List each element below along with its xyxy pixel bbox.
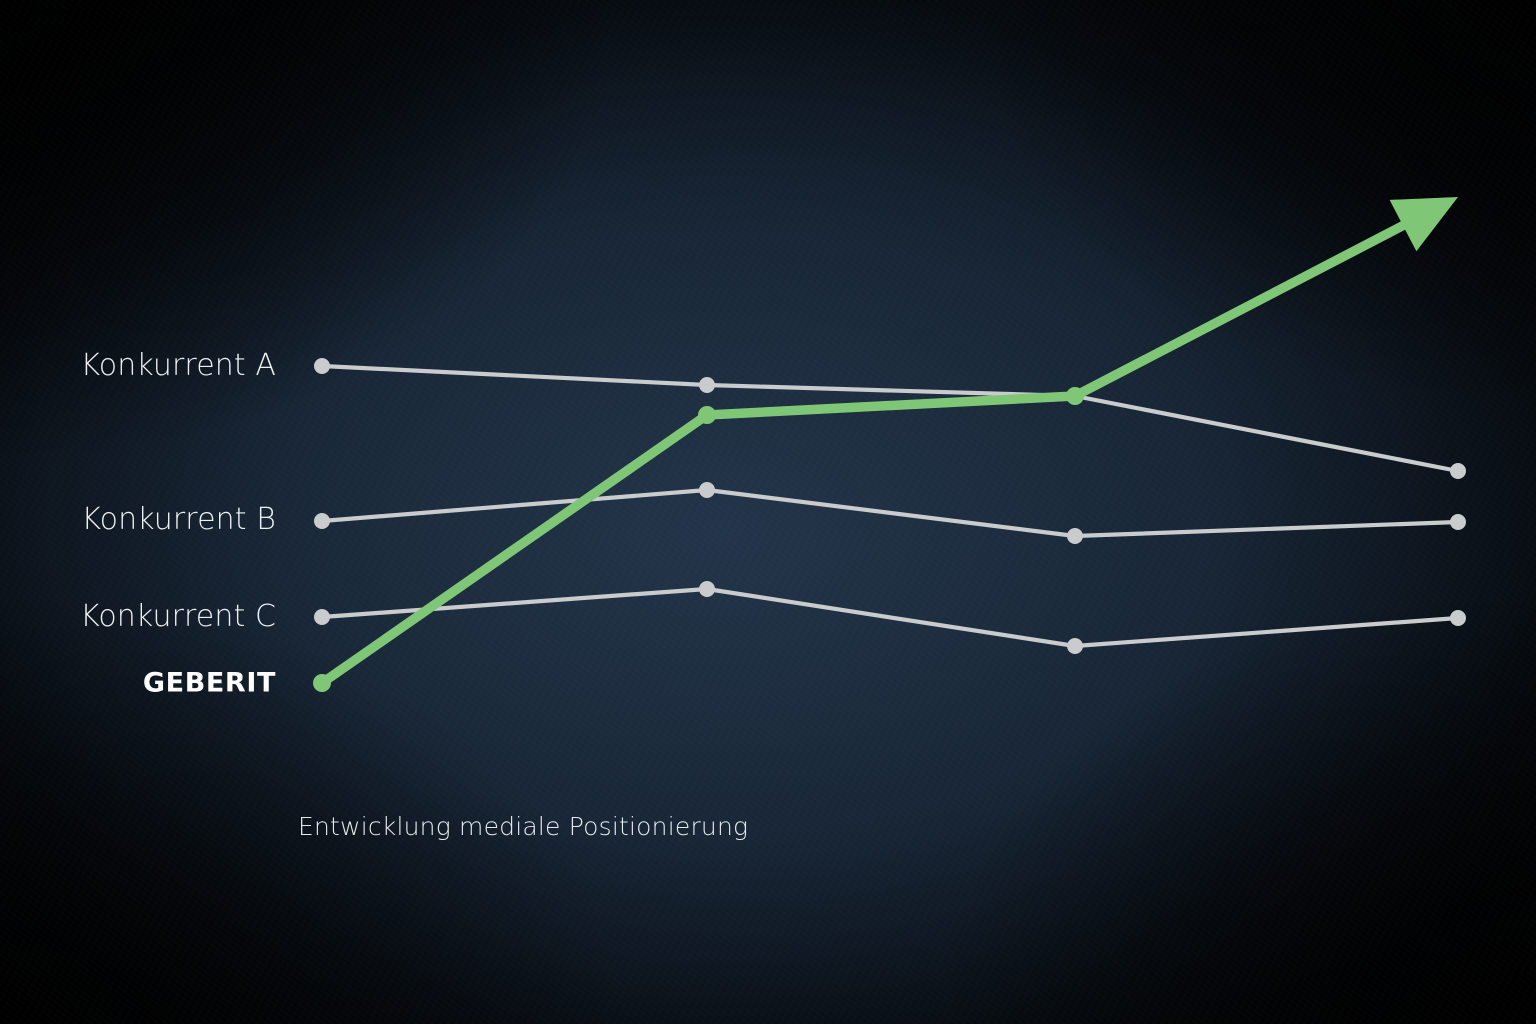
series-line-konkurrent-a: [322, 366, 1458, 471]
data-point-marker: [314, 513, 330, 529]
series-label-konkurrent-c: Konkurrent C: [80, 602, 276, 632]
data-point-marker: [699, 377, 715, 393]
series-label-text: Konkurrent A: [80, 348, 276, 383]
series-label-text: GEBERIT: [143, 668, 276, 699]
chart-canvas: Konkurrent A Konkurrent B Konkurrent C G…: [0, 0, 1536, 1024]
series-line-konkurrent-b: [322, 490, 1458, 536]
data-point-marker: [698, 406, 716, 424]
data-point-marker: [1067, 528, 1083, 544]
series-label-konkurrent-b: Konkurrent B: [81, 505, 276, 535]
series-label-text: Konkurrent B: [81, 502, 276, 537]
data-point-marker: [314, 609, 330, 625]
data-point-marker: [1450, 514, 1466, 530]
data-point-marker: [1067, 638, 1083, 654]
data-point-marker: [313, 674, 331, 692]
chart-caption: Entwicklung mediale Positionierung: [298, 812, 748, 841]
data-point-marker: [1066, 387, 1084, 405]
series-label-geberit: GEBERIT: [143, 670, 276, 697]
data-point-marker: [1450, 610, 1466, 626]
data-point-marker: [699, 482, 715, 498]
series-label-konkurrent-a: Konkurrent A: [80, 351, 276, 381]
data-point-marker: [1450, 463, 1466, 479]
series-layer: [322, 213, 1458, 683]
data-point-marker: [699, 581, 715, 597]
series-line-geberit: [322, 213, 1428, 683]
data-point-marker: [314, 358, 330, 374]
series-label-text: Konkurrent C: [80, 599, 276, 634]
series-line-konkurrent-c: [322, 589, 1458, 646]
